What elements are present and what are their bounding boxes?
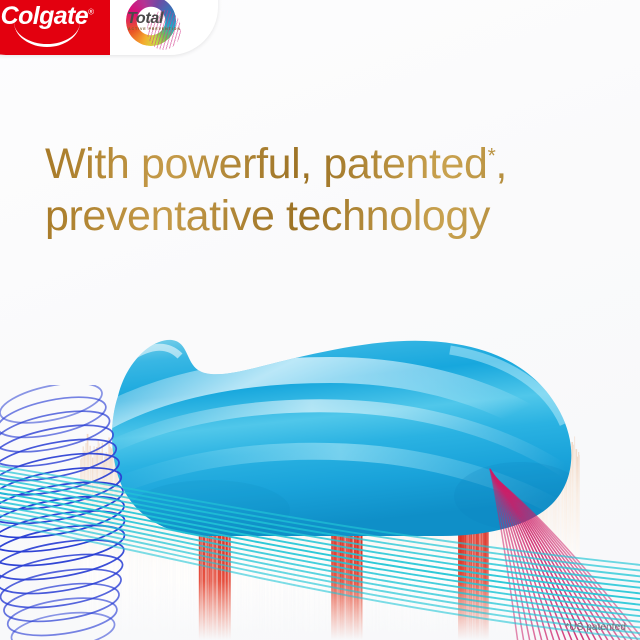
total-lockup: Total ACTIVE PREVENTION bbox=[121, 0, 201, 52]
total-tagline: ACTIVE PREVENTION bbox=[128, 27, 181, 31]
page-title: With powerful, patented*,preventative te… bbox=[45, 138, 615, 242]
footnote-marker-icon: * bbox=[488, 145, 496, 168]
total-wordmark: Total bbox=[127, 10, 163, 28]
brand-badge: Colgate® Total ACTIVE PREVENTION bbox=[0, 0, 218, 55]
footnote-us-patented: *US patented bbox=[565, 622, 626, 633]
headline-line-1: With powerful, patented*, bbox=[45, 140, 507, 188]
ad-canvas: Colgate® Total ACTIVE PREVENTION With po… bbox=[0, 0, 640, 640]
registered-mark-icon: ® bbox=[88, 8, 93, 17]
headline-line-2: preventative technology bbox=[45, 192, 490, 240]
cyan-swoosh-lines bbox=[0, 455, 640, 640]
